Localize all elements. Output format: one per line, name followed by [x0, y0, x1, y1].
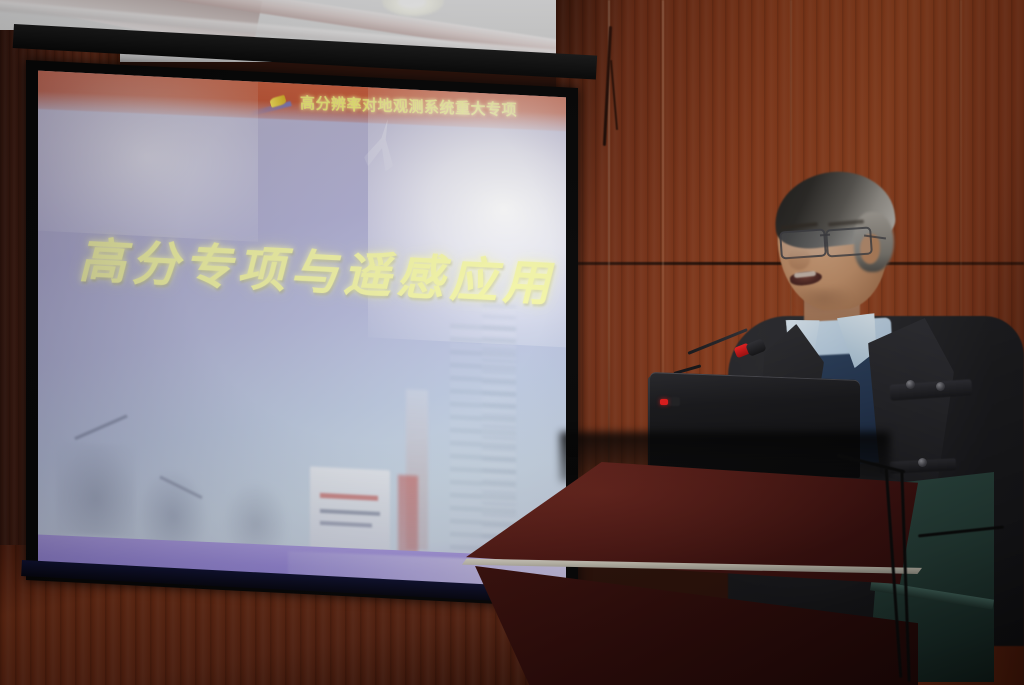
chin-shadow: [792, 288, 854, 314]
jacket-stud: [918, 458, 927, 467]
launch-tower-graphic: [482, 303, 516, 555]
crowd-graphic: [138, 468, 208, 550]
laptop-logo-plate: [668, 397, 680, 406]
presentation-photo: 高分辨率对地观测系统重大专项 高分专项与遥感应用: [0, 0, 1024, 685]
nose: [788, 248, 810, 270]
projection-screen-surface: 高分辨率对地观测系统重大专项 高分专项与遥感应用: [38, 71, 566, 594]
crowd-graphic: [56, 442, 136, 538]
glasses-lens: [825, 226, 873, 257]
laptop-indicator-icon: [660, 399, 668, 405]
antenna-graphic: [74, 415, 127, 441]
jacket-stud: [936, 382, 945, 391]
jacket-stud: [906, 380, 915, 389]
projector-glare-secondary: [38, 71, 258, 242]
slide-title: 高分专项与遥感应用: [78, 221, 555, 315]
flag-graphic: [398, 475, 418, 560]
projection-screen-frame: 高分辨率对地观测系统重大专项 高分专项与遥感应用: [26, 60, 578, 608]
